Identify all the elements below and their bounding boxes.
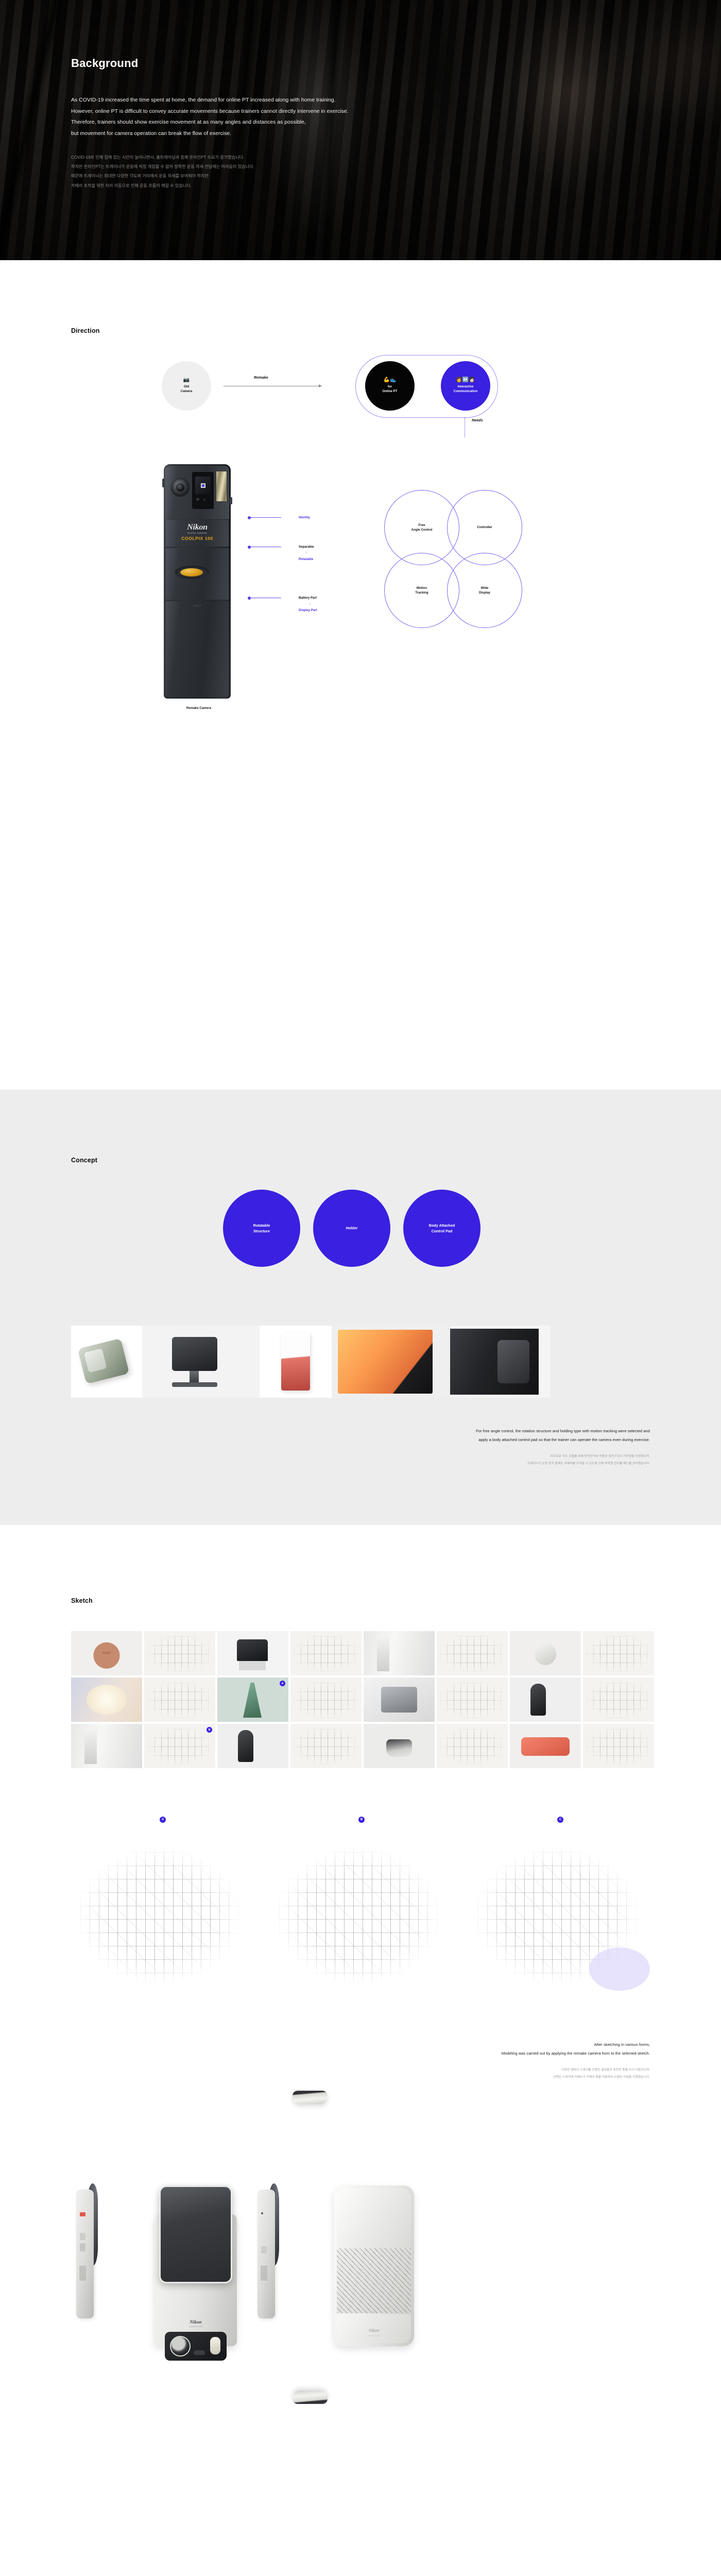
sketch-reference-photo bbox=[510, 1631, 581, 1675]
board-badge-c: C bbox=[557, 1817, 563, 1823]
sketch-reference-photo bbox=[364, 1631, 435, 1675]
needs-label-text: Free Angle Control bbox=[411, 523, 433, 533]
concept-paragraph-en: For free angle control, the rotation str… bbox=[0, 1427, 650, 1444]
sketch-board-row: A B C bbox=[71, 1817, 652, 1987]
sketch-drawing bbox=[437, 1724, 508, 1768]
concept-image-black-device bbox=[450, 1326, 550, 1398]
camera-lens bbox=[171, 478, 190, 497]
selected-sketch-highlight bbox=[589, 1947, 650, 1991]
background-paragraph-kr: COVID-19로 인해 집에 있는 시간이 늘어나면서, 홈트레이닝과 함께 … bbox=[71, 153, 462, 191]
render-side-plate bbox=[257, 2190, 275, 2318]
needs-circle-grid: Free Angle Control Controller Motion Tra… bbox=[384, 490, 522, 630]
arrow-down-icon: ↓ bbox=[309, 602, 311, 605]
sketch-paragraph-en: After sketching in various forms, Modeli… bbox=[0, 2040, 650, 2058]
board-badge-a: A bbox=[160, 1817, 166, 1823]
camera-mid-panel bbox=[166, 548, 229, 600]
needs-label: Needs bbox=[472, 418, 483, 422]
render-speaker-grill bbox=[79, 2266, 86, 2280]
board-badge-b: B bbox=[358, 1817, 365, 1823]
camera-breakdown-diagram: Nikon DIGITAL CAMERA COOLPIX 100 ▼BATT R… bbox=[0, 464, 721, 1021]
sketch-reference-photo bbox=[510, 1677, 581, 1722]
needs-dotted-connector bbox=[465, 418, 465, 437]
sketch-reference-photo bbox=[71, 1724, 142, 1768]
concept-kr-line: 트레이너가 운동 동작 중에도 카메라를 조작할 수 있도록 신체 부착형 컨트… bbox=[0, 1461, 650, 1468]
needs-label-text: Wide Display bbox=[479, 586, 490, 596]
camera-dial bbox=[196, 498, 199, 501]
concept-paragraph: For free angle control, the rotation str… bbox=[0, 1427, 650, 1468]
sketch-drawing bbox=[583, 1677, 654, 1722]
camera-shutter-button bbox=[180, 568, 203, 577]
needs-circle-wide-display: Wide Display bbox=[447, 553, 522, 628]
background-kr-line: 때문에 트레이너는 최대한 다양한 각도와 거리에서 운동 자세를 보여줘야 하… bbox=[71, 172, 462, 181]
camera-top-panel bbox=[165, 466, 229, 519]
sketch-drawing bbox=[437, 1677, 508, 1722]
render-textured-grip bbox=[337, 2248, 411, 2313]
camera-side-button bbox=[162, 479, 165, 487]
camera-model-text: COOLPIX 100 bbox=[166, 536, 229, 541]
background-en-line: As COVID-19 increased the time spent at … bbox=[71, 95, 535, 106]
render-button bbox=[80, 2233, 85, 2240]
sketch-paragraph-kr: 다양한 형태의 스케치를 진행한 결과물로 특정한 폼을 다시 다듬었으며, 선… bbox=[0, 2067, 650, 2081]
camera-sensor-dot bbox=[203, 499, 205, 501]
render-back-upper-panel bbox=[337, 2189, 411, 2248]
render-back-view: ▼ Nikon COOLPIX 100 bbox=[334, 2185, 414, 2346]
arrow-down-icon: ↓ bbox=[305, 551, 307, 554]
render-top-view-puck bbox=[293, 2091, 328, 2104]
sketch-drawing bbox=[144, 1631, 215, 1675]
concept-circle-rotatable-structure: Rotatable Structure bbox=[223, 1190, 300, 1267]
sketch-drawing bbox=[437, 1631, 508, 1675]
sketch-drawing bbox=[290, 1677, 362, 1722]
render-back-model-text: COOLPIX 100 bbox=[334, 2335, 414, 2337]
callout-display-part-label: Display Part bbox=[299, 608, 317, 613]
needs-label-text: Controller bbox=[477, 525, 492, 530]
camera-viewfinder-window bbox=[192, 472, 214, 509]
old-camera-label: Old Camera bbox=[181, 385, 193, 394]
muscle-shoe-icon: 💪👟 bbox=[384, 378, 397, 383]
background-section: Background As COVID-19 increased the tim… bbox=[0, 0, 721, 260]
sketch-drawing bbox=[583, 1631, 654, 1675]
sketch-board-a: A bbox=[71, 1817, 254, 1987]
render-mic-hole bbox=[261, 2212, 263, 2214]
render-back-body: ▼ Nikon COOLPIX 100 bbox=[334, 2185, 414, 2346]
sketch-drawing bbox=[583, 1724, 654, 1768]
sketch-board-c: C bbox=[469, 1817, 652, 1987]
portfolio-page: Background As COVID-19 increased the tim… bbox=[0, 0, 721, 2576]
sketch-kr-line: 다양한 형태의 스케치를 진행한 결과물로 특정한 폼을 다시 다듬었으며, bbox=[0, 2067, 650, 2074]
concept-paragraph-kr: 자유로운 각도 조절을 위해 동작인식이 적용된 회전구조와 거치형을 선정했으… bbox=[0, 1453, 650, 1468]
render-model-text: COOLPIX 100 bbox=[154, 2326, 237, 2328]
board-sketch-canvas bbox=[270, 1839, 453, 1987]
camera-brand-text: Nikon bbox=[166, 523, 229, 532]
render-speaker-grill bbox=[261, 2266, 267, 2280]
render-button bbox=[261, 2246, 267, 2253]
page-title: Background bbox=[71, 57, 721, 70]
sketch-kr-line: 선택된 스케치에 리메이크 카메라 폼을 적용하여 모델링 작업을 진행했습니다… bbox=[0, 2074, 650, 2081]
needs-label-text: Motion Tracking bbox=[415, 586, 428, 596]
background-kr-line: 하지만 온라인PT는 트레이너가 운동에 직접 개입할 수 없어 정확한 운동 … bbox=[71, 162, 462, 172]
render-record-button bbox=[80, 2212, 85, 2216]
camera-lens-inner bbox=[176, 483, 184, 492]
background-en-line: but movement for camera operation can br… bbox=[71, 128, 535, 140]
sketch-reference-photo bbox=[71, 1677, 142, 1722]
callout-separable-label: Separable bbox=[299, 545, 314, 549]
interactive-communication-circle: 👩↔️👩🏻 Interactive Communication bbox=[441, 361, 490, 411]
sketch-en-line: After sketching in various forms, bbox=[0, 2040, 650, 2049]
render-button bbox=[80, 2243, 85, 2251]
sketch-reference-photo bbox=[364, 1677, 435, 1722]
render-front-view: Nikon COOLPIX 100 bbox=[154, 2185, 237, 2346]
viewfinder-icon bbox=[195, 477, 211, 494]
sketch-badge-a: A bbox=[280, 1681, 285, 1686]
callout-identity-label: Identity bbox=[299, 515, 310, 520]
concept-circle-row: Rotatable Structure Holder Body Attached… bbox=[0, 1190, 721, 1302]
render-left-side-view bbox=[76, 2190, 94, 2318]
render-camera-module bbox=[165, 2332, 227, 2361]
render-brand-text: Nikon bbox=[154, 2319, 237, 2325]
callout-rotatable-label: Rotatable bbox=[299, 557, 313, 562]
concept-section: Concept Rotatable Structure Holder Body … bbox=[0, 1090, 721, 1525]
background-paragraph-en: As COVID-19 increased the time spent at … bbox=[71, 95, 535, 140]
sketch-reference-photo bbox=[217, 1631, 288, 1675]
section-title-concept: Concept bbox=[71, 1157, 721, 1164]
section-title-sketch: Sketch bbox=[71, 1597, 721, 1604]
section-title-direction: Direction bbox=[71, 327, 721, 334]
camera-brand-band: Nikon DIGITAL CAMERA COOLPIX 100 bbox=[166, 520, 229, 547]
direction-remake-diagram: 📷 Old Camera Remake 💪👟 for Online PT 👩↔️… bbox=[0, 361, 721, 464]
sketch-reference-photo bbox=[364, 1724, 435, 1768]
camera-battery-panel: ▼BATT bbox=[166, 601, 229, 697]
sketch-drawing bbox=[144, 1677, 215, 1722]
concept-circle-label: Body Attached Control Pad bbox=[429, 1223, 455, 1234]
concept-image-orange-panel bbox=[332, 1326, 450, 1398]
sketch-reference-photo: A bbox=[217, 1677, 288, 1722]
render-bottom-view-puck bbox=[293, 2391, 328, 2404]
concept-en-line: apply a body attached control pad so tha… bbox=[0, 1435, 650, 1444]
online-pt-label: for Online PT bbox=[383, 385, 398, 394]
sketch-en-line: Modeling was carried out by applying the… bbox=[0, 2049, 650, 2058]
concept-circle-holder: Holder bbox=[313, 1190, 390, 1267]
sketch-drawing: B bbox=[144, 1724, 215, 1768]
concept-circle-label: Holder bbox=[346, 1225, 358, 1231]
sketch-section: Sketch A B bbox=[0, 1525, 721, 2576]
concept-circle-body-attached-control-pad: Body Attached Control Pad bbox=[403, 1190, 480, 1267]
callout-leader-line-battery bbox=[249, 598, 281, 598]
sketch-reference-photo bbox=[71, 1631, 142, 1675]
callout-leader-line-identity bbox=[249, 517, 281, 518]
concept-kr-line: 자유로운 각도 조절을 위해 동작인식이 적용된 회전구조와 거치형을 선정했으… bbox=[0, 1453, 650, 1461]
background-kr-line: COVID-19로 인해 집에 있는 시간이 늘어나면서, 홈트레이닝과 함께 … bbox=[71, 153, 462, 162]
concept-image-monitor-stand bbox=[142, 1326, 260, 1398]
old-camera-circle: 📷 Old Camera bbox=[162, 361, 211, 411]
render-display-screen bbox=[159, 2185, 232, 2283]
concept-reference-image-strip bbox=[0, 1326, 721, 1398]
render-back-brand-text: Nikon bbox=[334, 2328, 414, 2333]
sketch-drawing bbox=[290, 1724, 362, 1768]
render-lens bbox=[170, 2336, 191, 2357]
remake-arrow-icon bbox=[224, 386, 321, 386]
interactive-communication-label: Interactive Communication bbox=[454, 385, 478, 394]
render-right-side-view bbox=[257, 2190, 275, 2318]
concept-image-green-pad bbox=[71, 1326, 142, 1398]
render-side-plate bbox=[76, 2190, 94, 2318]
camera-side-button-right bbox=[230, 497, 232, 504]
sketch-badge-b: B bbox=[207, 1727, 212, 1733]
board-sketch-canvas bbox=[71, 1839, 254, 1987]
two-people-exchange-icon: 👩↔️👩🏻 bbox=[456, 378, 475, 383]
direction-section: Direction 📷 Old Camera Remake 💪👟 for Onl… bbox=[0, 260, 721, 1090]
sketch-image-grid: A B bbox=[71, 1631, 652, 1768]
concept-circle-label: Rotatable Structure bbox=[253, 1223, 270, 1234]
callout-battery-part-label: Battery Part bbox=[299, 596, 317, 600]
concept-image-red-device bbox=[260, 1326, 332, 1398]
sketch-reference-photo bbox=[510, 1724, 581, 1768]
callout-leader-line-separable bbox=[249, 547, 281, 547]
remake-label: Remake bbox=[254, 375, 268, 380]
online-pt-circle: 💪👟 for Online PT bbox=[365, 361, 415, 411]
sketch-board-b: B bbox=[270, 1817, 453, 1987]
camera-flash bbox=[216, 471, 227, 502]
background-kr-line: 카메라 조작을 위한 자리 이동으로 인해 운동 흐름이 깨질 수 있습니다. bbox=[71, 181, 462, 191]
render-flash bbox=[210, 2337, 220, 2354]
camera-icon: 📷 bbox=[183, 378, 190, 383]
product-render-views: Nikon COOLPIX 100 bbox=[0, 2081, 721, 2432]
render-sensor-strip bbox=[194, 2350, 205, 2355]
background-en-line: Therefore, trainers should show exercise… bbox=[71, 117, 535, 128]
camera-caption: Remake Camera bbox=[163, 706, 235, 710]
sketch-reference-photo bbox=[217, 1724, 288, 1768]
render-battery-arrow-icon: ▼ bbox=[373, 2311, 375, 2314]
sketch-drawing bbox=[290, 1631, 362, 1675]
background-en-line: However, online PT is difficult to conve… bbox=[71, 106, 535, 117]
remake-camera-illustration: Nikon DIGITAL CAMERA COOLPIX 100 ▼BATT bbox=[164, 464, 231, 699]
concept-en-line: For free angle control, the rotation str… bbox=[0, 1427, 650, 1435]
sketch-paragraph: After sketching in various forms, Modeli… bbox=[0, 2040, 650, 2081]
camera-battery-text: ▼BATT bbox=[166, 604, 229, 607]
camera-subtitle-text: DIGITAL CAMERA bbox=[166, 532, 229, 534]
